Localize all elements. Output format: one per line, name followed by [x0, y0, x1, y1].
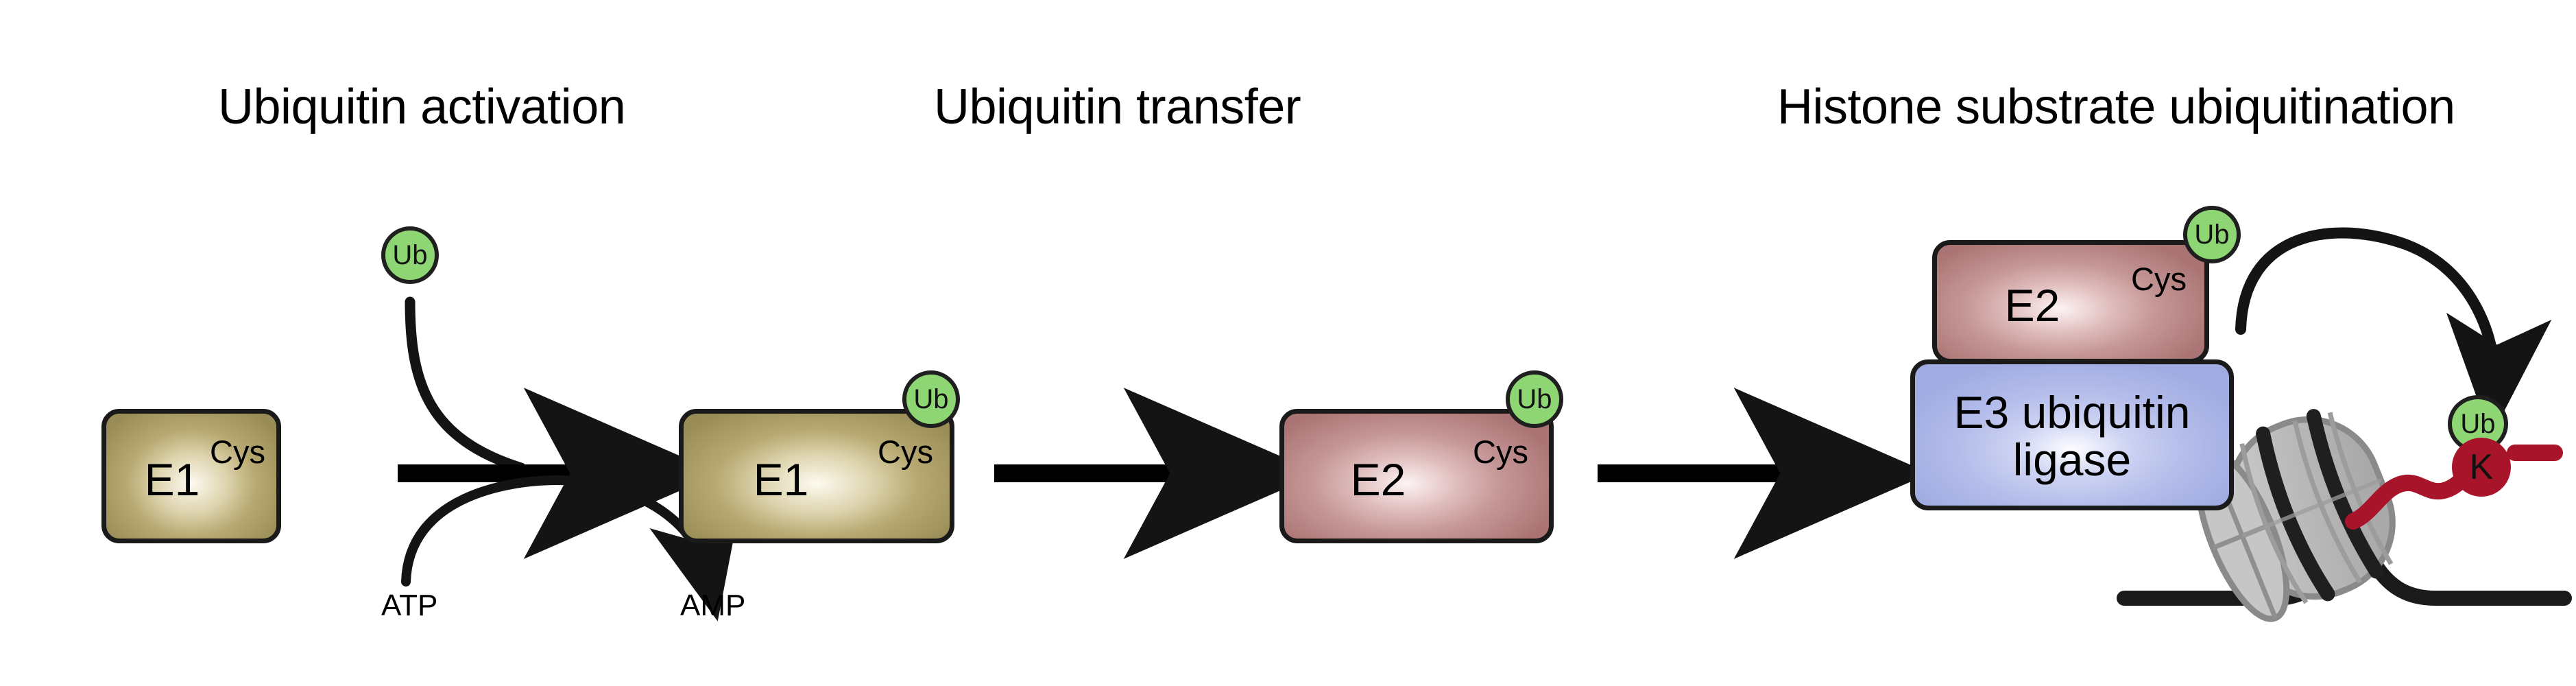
lysine-label: K	[2470, 449, 2494, 485]
ubiquitin-label: Ub	[913, 386, 948, 413]
ubiquitin-label: Ub	[2460, 410, 2495, 438]
cys-site-label-e2: Cys	[1473, 433, 1528, 471]
enzyme-box-e3-ubiquitin-ligase: E3 ubiquitin ligase	[1910, 359, 2234, 510]
ubiquitination-pathway-diagram: Ubiquitin activation Ubiquitin transfer …	[0, 0, 2576, 686]
ubiquitin-free-badge: Ub	[381, 226, 439, 284]
stage-title-ubiquitin-transfer: Ubiquitin transfer	[934, 82, 1301, 132]
enzyme-label-e1-ub: E1	[648, 456, 914, 504]
ubiquitin-label: Ub	[2194, 221, 2229, 248]
ubiquitin-label: Ub	[392, 241, 427, 269]
cys-site-label-e1-ub: Cys	[878, 433, 933, 471]
ubiquitin-entry-curve	[410, 302, 521, 468]
enzyme-box-e2-ubiquitinated: E2 Cys	[1279, 409, 1554, 543]
enzyme-label-e2-complex: E2	[1899, 282, 2166, 329]
ubiquitin-label: Ub	[1517, 386, 1552, 413]
ubiquitin-transfer-arc	[2241, 233, 2494, 384]
stage-title-ubiquitin-activation: Ubiquitin activation	[218, 82, 625, 132]
stage-title-histone-substrate-ubiquitination: Histone substrate ubiquitination	[1777, 82, 2455, 132]
cofactor-label-amp: AMP	[680, 589, 745, 623]
cys-site-label-e1-free: Cys	[210, 433, 265, 471]
ubiquitin-badge-on-e2-complex: Ub	[2183, 206, 2241, 263]
enzyme-box-e1-free: E1 Cys	[101, 409, 281, 543]
cys-site-label-e2-complex: Cys	[2131, 260, 2187, 298]
ubiquitin-badge-on-e1: Ub	[902, 370, 960, 428]
cofactor-label-atp: ATP	[381, 589, 437, 623]
ubiquitin-badge-on-e2: Ub	[1506, 370, 1563, 428]
enzyme-label-e3: E3 ubiquitin ligase	[1915, 389, 2229, 483]
enzyme-label-e2: E2	[1246, 456, 1510, 504]
dna-strand	[2124, 567, 2564, 598]
enzyme-box-e2-in-complex: E2 Cys	[1932, 240, 2209, 364]
lysine-residue-badge: K	[2452, 438, 2511, 497]
enzyme-box-e1-ubiquitinated: E1 Cys	[679, 409, 954, 543]
